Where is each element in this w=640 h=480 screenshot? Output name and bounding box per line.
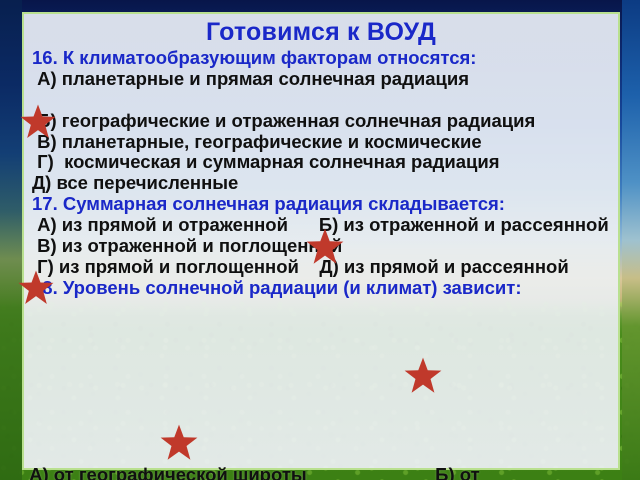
question-16-options: А) планетарные и прямая солнечная радиац… bbox=[30, 69, 612, 194]
question-18-heading: 18. Уровень солнечной радиации (и климат… bbox=[30, 278, 612, 299]
background-right-edge bbox=[622, 0, 640, 480]
background-left-edge bbox=[0, 0, 22, 480]
slide-content-panel: Готовимся к ВОУД 16. К климатообразующим… bbox=[22, 12, 620, 470]
question-18-options-clipped: А) от географической широты Б) от bbox=[24, 466, 636, 480]
question-17-heading: 17. Суммарная солнечная радиация складыв… bbox=[30, 194, 612, 215]
slide-body: Готовимся к ВОУД 16. К климатообразующим… bbox=[24, 14, 618, 299]
question-16-heading: 16. К климатообразующим факторам относят… bbox=[30, 48, 612, 69]
page-title: Готовимся к ВОУД bbox=[30, 18, 612, 46]
question-17-options: А) из прямой и отраженной Б) из отраженн… bbox=[30, 215, 612, 278]
